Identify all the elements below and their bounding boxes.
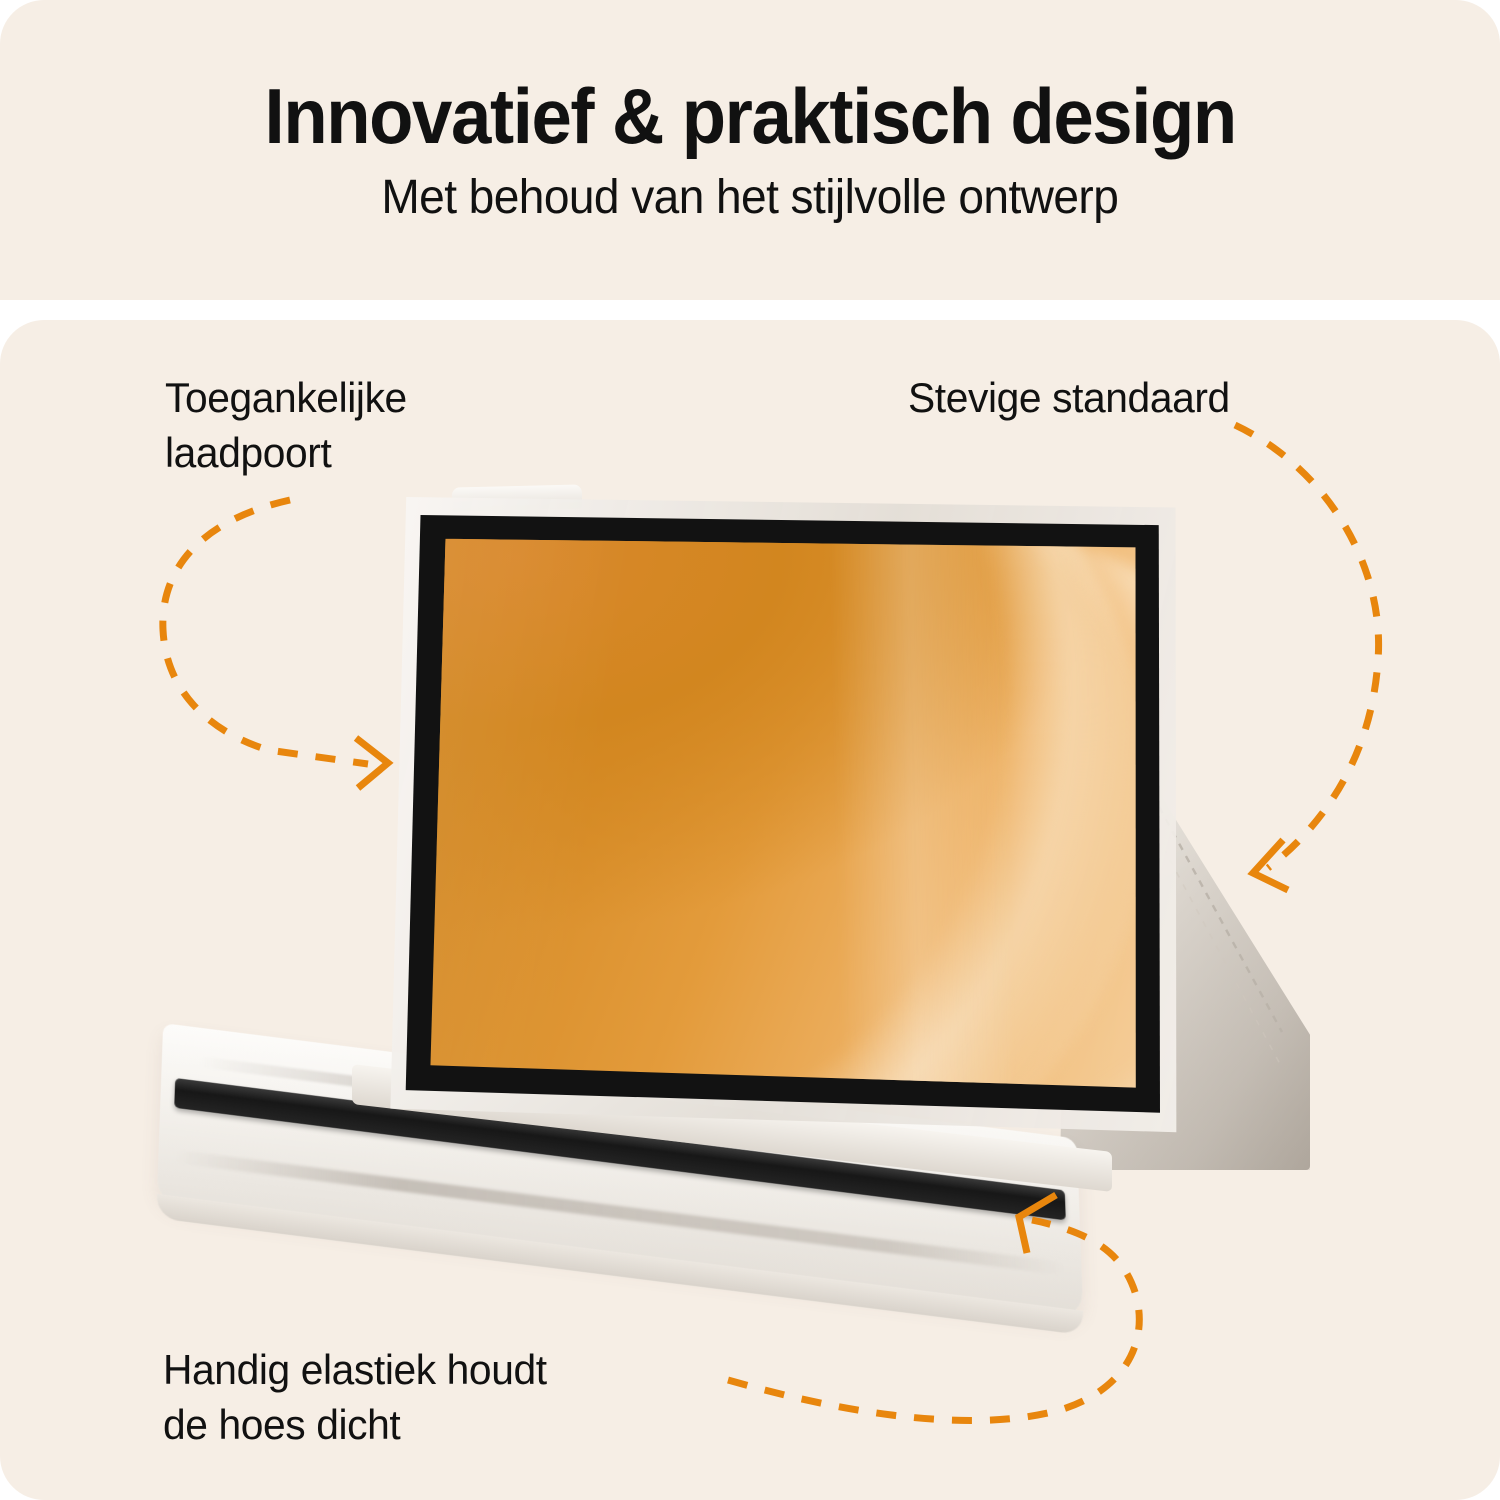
tablet-device	[371, 492, 1174, 1148]
screen-sheen	[371, 492, 1174, 1148]
product-photo	[0, 320, 1500, 1500]
page-subtitle: Met behoud van het stijlvolle ontwerp	[382, 173, 1119, 223]
tablet-screen	[371, 492, 1174, 1148]
callout-label-charging-port: Toegankelijke laadpoort	[165, 370, 407, 481]
product-feature-page: Innovatief & praktisch design Met behoud…	[0, 0, 1500, 1500]
callout-label-elastic: Handig elastiek houdt de hoes dicht	[163, 1342, 547, 1453]
callout-label-stand: Stevige standaard	[908, 370, 1230, 425]
page-title: Innovatief & praktisch design	[264, 77, 1235, 157]
product-image-card: Toegankelijke laadpoort Stevige standaar…	[0, 320, 1500, 1500]
header-card: Innovatief & praktisch design Met behoud…	[0, 0, 1500, 300]
